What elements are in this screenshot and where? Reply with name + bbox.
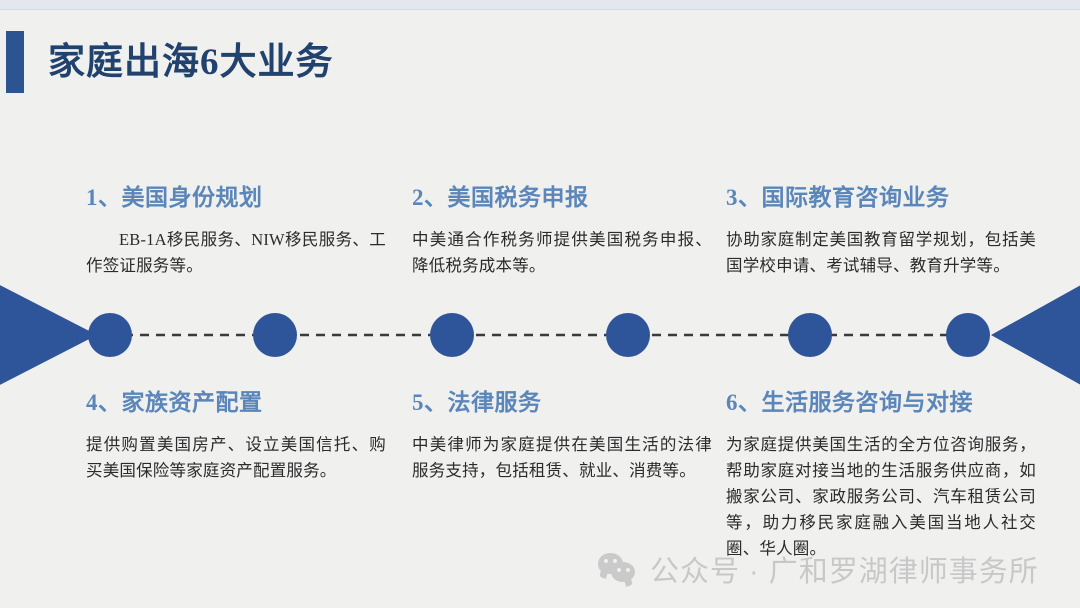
business-item-2-heading: 2、美国税务申报 bbox=[412, 183, 712, 213]
timeline bbox=[0, 270, 1080, 400]
business-item-3-heading: 3、国际教育咨询业务 bbox=[726, 183, 1036, 213]
timeline-node bbox=[430, 313, 474, 357]
business-item-4-body: 提供购置美国房产、设立美国信托、购买美国保险等家庭资产配置服务。 bbox=[86, 432, 386, 484]
business-item-1-heading: 1、美国身份规划 bbox=[86, 183, 386, 213]
watermark-text: 公众号 · 广和罗湖律师事务所 bbox=[650, 548, 1039, 590]
timeline-node bbox=[788, 313, 832, 357]
title-accent-bar bbox=[6, 31, 24, 93]
watermark: 公众号 · 广和罗湖律师事务所 bbox=[598, 548, 1039, 590]
business-item-5: 5、法律服务 中美律师为家庭提供在美国生活的法律服务支持，包括租赁、就业、消费等… bbox=[412, 388, 712, 484]
page-title: 家庭出海6大业务 bbox=[48, 36, 334, 90]
business-item-2: 2、美国税务申报 中美通合作税务师提供美国税务申报、降低税务成本等。 bbox=[412, 183, 712, 279]
right-arrowhead bbox=[991, 280, 1080, 390]
wechat-logo-icon bbox=[598, 552, 638, 586]
business-item-5-heading: 5、法律服务 bbox=[412, 388, 712, 418]
business-item-4: 4、家族资产配置 提供购置美国房产、设立美国信托、购买美国保险等家庭资产配置服务… bbox=[86, 388, 386, 484]
business-item-1: 1、美国身份规划 EB-1A移民服务、NIW移民服务、工作签证服务等。 bbox=[86, 183, 386, 279]
business-item-2-body: 中美通合作税务师提供美国税务申报、降低税务成本等。 bbox=[412, 227, 712, 279]
timeline-node bbox=[253, 313, 297, 357]
business-item-3-body: 协助家庭制定美国教育留学规划，包括美国学校申请、考试辅导、教育升学等。 bbox=[726, 227, 1036, 279]
business-item-3: 3、国际教育咨询业务 协助家庭制定美国教育留学规划，包括美国学校申请、考试辅导、… bbox=[726, 183, 1036, 279]
left-arrowhead bbox=[0, 280, 97, 390]
business-item-6: 6、生活服务咨询与对接 为家庭提供美国生活的全方位咨询服务，帮助家庭对接当地的生… bbox=[726, 388, 1036, 562]
slide-canvas: 家庭出海6大业务 1、美国身份规划 EB-1A移民服务、NIW移民服务、工作签证… bbox=[0, 0, 1080, 608]
business-item-1-body: EB-1A移民服务、NIW移民服务、工作签证服务等。 bbox=[86, 227, 386, 279]
top-strip bbox=[0, 0, 1080, 10]
timeline-node bbox=[88, 313, 132, 357]
timeline-node bbox=[946, 313, 990, 357]
timeline-node bbox=[606, 313, 650, 357]
business-item-5-body: 中美律师为家庭提供在美国生活的法律服务支持，包括租赁、就业、消费等。 bbox=[412, 432, 712, 484]
business-item-6-body: 为家庭提供美国生活的全方位咨询服务，帮助家庭对接当地的生活服务供应商，如搬家公司… bbox=[726, 432, 1036, 562]
slide-header: 家庭出海6大业务 bbox=[0, 10, 1080, 110]
business-item-4-heading: 4、家族资产配置 bbox=[86, 388, 386, 418]
business-item-6-heading: 6、生活服务咨询与对接 bbox=[726, 388, 1036, 418]
